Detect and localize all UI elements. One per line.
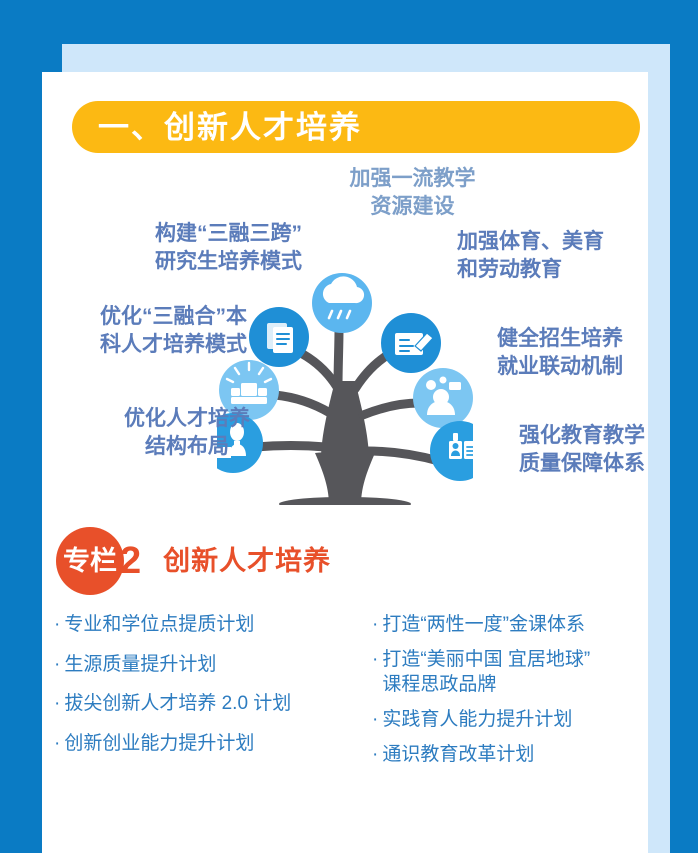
bullet-dot-icon: · <box>54 612 60 638</box>
list-item[interactable]: ·通识教育改革计划 <box>372 742 652 768</box>
column-title: 创新人才培养 <box>163 548 331 575</box>
bullet-dot-icon: · <box>54 731 60 757</box>
bullet-dot-icon: · <box>372 612 378 638</box>
tree-label-lower-left: 优化人才培养 结构布局 <box>72 405 302 462</box>
list-item-label: 打造“两性一度”金课体系 <box>382 612 585 638</box>
column-badge-label: 专栏 <box>63 548 117 575</box>
tree-label-right: 健全招生培养 就业联动机制 <box>497 325 687 382</box>
bullet-dot-icon: · <box>372 707 378 733</box>
bullet-dot-icon: · <box>54 691 60 717</box>
list-item[interactable]: ·生源质量提升计划 <box>54 652 354 678</box>
list-item[interactable]: ·专业和学位点提质计划 <box>54 612 354 638</box>
column-header: 专栏 2 创新人才培养 <box>56 527 331 595</box>
tree-diagram: 加强一流教学 资源建设 构建“三融三跨” 研究生培养模式 加强体育、美育 和劳动… <box>42 160 648 505</box>
bullet-dot-icon: · <box>54 652 60 678</box>
plan-list-left: ·专业和学位点提质计划·生源质量提升计划·拔尖创新人才培养 2.0 计划·创新创… <box>54 612 354 771</box>
tree-label-top: 加强一流教学 资源建设 <box>325 165 500 222</box>
bullet-dot-icon: · <box>372 742 378 768</box>
tree-label-lower-right: 强化教育教学 质量保障体系 <box>482 422 682 479</box>
section-banner: 一、创新人才培养 <box>72 101 640 153</box>
list-item-label: 打造“美丽中国 宜居地球” 课程思政品牌 <box>382 647 590 698</box>
plan-lists: ·专业和学位点提质计划·生源质量提升计划·拔尖创新人才培养 2.0 计划·创新创… <box>42 612 648 812</box>
list-item[interactable]: ·实践育人能力提升计划 <box>372 707 652 733</box>
cloud-rain-icon <box>312 273 372 333</box>
list-item-label: 创新创业能力提升计划 <box>64 731 254 757</box>
people-group-icon <box>413 368 473 428</box>
bullet-dot-icon: · <box>372 647 378 673</box>
tree-label-left: 优化“三融合”本 科人才培养模式 <box>32 303 247 360</box>
list-item-label: 生源质量提升计划 <box>64 652 216 678</box>
list-item-label: 专业和学位点提质计划 <box>64 612 254 638</box>
id-badge-icon <box>430 421 473 481</box>
column-badge-number: 2 <box>120 542 141 580</box>
list-item-label: 实践育人能力提升计划 <box>382 707 572 733</box>
list-item[interactable]: ·打造“两性一度”金课体系 <box>372 612 652 638</box>
column-badge: 专栏 <box>56 527 124 595</box>
list-item[interactable]: ·创新创业能力提升计划 <box>54 731 354 757</box>
section-banner-title: 一、创新人才培养 <box>98 112 362 143</box>
list-item-label: 拔尖创新人才培养 2.0 计划 <box>64 691 291 717</box>
tree-label-upper-left: 构建“三融三跨” 研究生培养模式 <box>42 220 302 277</box>
list-item[interactable]: ·打造“美丽中国 宜居地球” 课程思政品牌 <box>372 647 652 698</box>
edit-pencil-icon <box>381 313 441 373</box>
plan-list-right: ·打造“两性一度”金课体系·打造“美丽中国 宜居地球” 课程思政品牌·实践育人能… <box>372 612 652 776</box>
list-item-label: 通识教育改革计划 <box>382 742 534 768</box>
tree-graphic <box>217 255 473 505</box>
documents-icon <box>249 307 309 367</box>
list-item[interactable]: ·拔尖创新人才培养 2.0 计划 <box>54 691 354 717</box>
tree-label-upper-right: 加强体育、美育 和劳动教育 <box>457 228 667 285</box>
